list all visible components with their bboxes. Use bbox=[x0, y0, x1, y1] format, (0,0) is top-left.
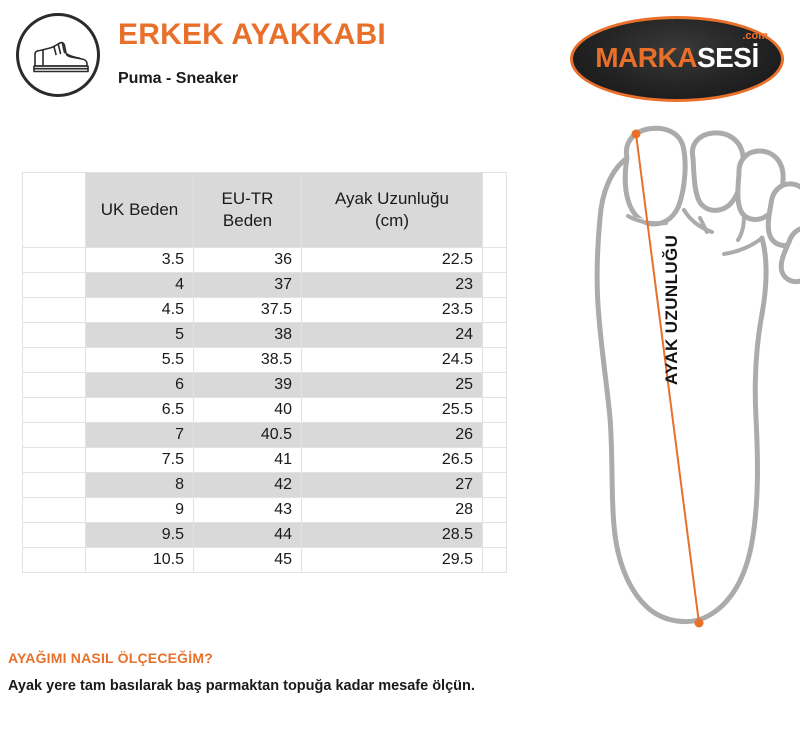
row-spacer-right bbox=[483, 348, 507, 373]
cell-uk-beden: 10.5 bbox=[86, 548, 194, 573]
header-uk-beden: UK Beden bbox=[86, 173, 194, 248]
table-row: 9.54428.5 bbox=[23, 523, 507, 548]
row-spacer-right bbox=[483, 248, 507, 273]
cell-eu-tr-beden: 38.5 bbox=[194, 348, 302, 373]
cell-eu-tr-beden: 41 bbox=[194, 448, 302, 473]
size-chart-table: UK Beden EU-TR Beden Ayak Uzunluğu (cm) … bbox=[22, 172, 507, 573]
row-spacer-right bbox=[483, 498, 507, 523]
cell-eu-tr-beden: 44 bbox=[194, 523, 302, 548]
cell-eu-tr-beden: 38 bbox=[194, 323, 302, 348]
cell-uk-beden: 4 bbox=[86, 273, 194, 298]
cell-uk-beden: 5.5 bbox=[86, 348, 194, 373]
row-spacer-left bbox=[23, 548, 86, 573]
logo-text-sesi: SESİ bbox=[697, 42, 759, 73]
cell-ayak-uzunlugu: 29.5 bbox=[302, 548, 483, 573]
header-uk-label: UK Beden bbox=[101, 200, 179, 219]
sneaker-icon bbox=[16, 13, 100, 97]
cell-uk-beden: 6 bbox=[86, 373, 194, 398]
row-spacer-left bbox=[23, 323, 86, 348]
row-spacer-left bbox=[23, 273, 86, 298]
cell-uk-beden: 9 bbox=[86, 498, 194, 523]
row-spacer-left bbox=[23, 498, 86, 523]
header-cm-label-line2: (cm) bbox=[375, 211, 409, 230]
header-cm-label-line1: Ayak Uzunluğu bbox=[335, 189, 449, 208]
cell-uk-beden: 9.5 bbox=[86, 523, 194, 548]
foot-length-label: AYAK UZUNLUĞU bbox=[662, 205, 682, 385]
row-spacer-right bbox=[483, 373, 507, 398]
page-title: ERKEK AYAKKABI bbox=[118, 16, 386, 54]
cell-uk-beden: 5 bbox=[86, 323, 194, 348]
cell-ayak-uzunlugu: 26.5 bbox=[302, 448, 483, 473]
cell-eu-tr-beden: 37 bbox=[194, 273, 302, 298]
logo-wordmark: MARKASESİ bbox=[570, 42, 784, 74]
row-spacer-right bbox=[483, 273, 507, 298]
row-spacer-right bbox=[483, 473, 507, 498]
table-row: 84227 bbox=[23, 473, 507, 498]
cell-ayak-uzunlugu: 25 bbox=[302, 373, 483, 398]
cell-ayak-uzunlugu: 23.5 bbox=[302, 298, 483, 323]
cell-eu-tr-beden: 39 bbox=[194, 373, 302, 398]
cell-uk-beden: 4.5 bbox=[86, 298, 194, 323]
row-spacer-left bbox=[23, 523, 86, 548]
cell-ayak-uzunlugu: 26 bbox=[302, 423, 483, 448]
page-header: ERKEK AYAKKABI Puma - Sneaker MARKASESİ … bbox=[0, 0, 800, 120]
cell-ayak-uzunlugu: 28 bbox=[302, 498, 483, 523]
cell-eu-tr-beden: 45 bbox=[194, 548, 302, 573]
cell-uk-beden: 7.5 bbox=[86, 448, 194, 473]
cell-uk-beden: 7 bbox=[86, 423, 194, 448]
cell-eu-tr-beden: 37.5 bbox=[194, 298, 302, 323]
title-block: ERKEK AYAKKABI Puma - Sneaker bbox=[118, 16, 386, 90]
howto-text: Ayak yere tam basılarak baş parmaktan to… bbox=[8, 678, 475, 694]
cell-uk-beden: 6.5 bbox=[86, 398, 194, 423]
row-spacer-right bbox=[483, 548, 507, 573]
table-row: 5.538.524.5 bbox=[23, 348, 507, 373]
table-row: 53824 bbox=[23, 323, 507, 348]
logo-text-dotcom: .com bbox=[742, 30, 768, 42]
row-spacer-left bbox=[23, 473, 86, 498]
table-row: 43723 bbox=[23, 273, 507, 298]
row-spacer-right bbox=[483, 423, 507, 448]
cell-uk-beden: 3.5 bbox=[86, 248, 194, 273]
brand-logo: MARKASESİ .com bbox=[570, 16, 784, 102]
header-eu-tr-beden: EU-TR Beden bbox=[194, 173, 302, 248]
table-row: 740.526 bbox=[23, 423, 507, 448]
header-eu-label-line1: EU-TR bbox=[222, 189, 274, 208]
table-body: 3.53622.5437234.537.523.5538245.538.524.… bbox=[23, 248, 507, 573]
row-spacer-right bbox=[483, 323, 507, 348]
cell-eu-tr-beden: 42 bbox=[194, 473, 302, 498]
row-spacer-right bbox=[483, 448, 507, 473]
cell-eu-tr-beden: 43 bbox=[194, 498, 302, 523]
header-spacer-left bbox=[23, 173, 86, 248]
row-spacer-left bbox=[23, 448, 86, 473]
cell-ayak-uzunlugu: 22.5 bbox=[302, 248, 483, 273]
foot-sole-diagram bbox=[566, 118, 800, 638]
cell-ayak-uzunlugu: 23 bbox=[302, 273, 483, 298]
row-spacer-left bbox=[23, 423, 86, 448]
row-spacer-right bbox=[483, 298, 507, 323]
cell-ayak-uzunlugu: 24.5 bbox=[302, 348, 483, 373]
row-spacer-left bbox=[23, 248, 86, 273]
cell-ayak-uzunlugu: 27 bbox=[302, 473, 483, 498]
row-spacer-left bbox=[23, 373, 86, 398]
table-row: 63925 bbox=[23, 373, 507, 398]
row-spacer-left bbox=[23, 398, 86, 423]
table-row: 6.54025.5 bbox=[23, 398, 507, 423]
cell-uk-beden: 8 bbox=[86, 473, 194, 498]
cell-ayak-uzunlugu: 28.5 bbox=[302, 523, 483, 548]
row-spacer-left bbox=[23, 348, 86, 373]
table-row: 7.54126.5 bbox=[23, 448, 507, 473]
header-eu-label-line2: Beden bbox=[223, 211, 272, 230]
cell-ayak-uzunlugu: 24 bbox=[302, 323, 483, 348]
row-spacer-right bbox=[483, 398, 507, 423]
cell-ayak-uzunlugu: 25.5 bbox=[302, 398, 483, 423]
header-spacer-right bbox=[483, 173, 507, 248]
howto-heading: AYAĞIMI NASIL ÖLÇECEĞİM? bbox=[8, 650, 213, 666]
table-header-row: UK Beden EU-TR Beden Ayak Uzunluğu (cm) bbox=[23, 173, 507, 248]
header-ayak-uzunlugu: Ayak Uzunluğu (cm) bbox=[302, 173, 483, 248]
cell-eu-tr-beden: 36 bbox=[194, 248, 302, 273]
row-spacer-left bbox=[23, 298, 86, 323]
logo-text-marka: MARKA bbox=[595, 42, 697, 73]
row-spacer-right bbox=[483, 523, 507, 548]
cell-eu-tr-beden: 40.5 bbox=[194, 423, 302, 448]
table-row: 4.537.523.5 bbox=[23, 298, 507, 323]
table-row: 3.53622.5 bbox=[23, 248, 507, 273]
page-subtitle: Puma - Sneaker bbox=[118, 68, 386, 90]
table-row: 94328 bbox=[23, 498, 507, 523]
cell-eu-tr-beden: 40 bbox=[194, 398, 302, 423]
table-row: 10.54529.5 bbox=[23, 548, 507, 573]
